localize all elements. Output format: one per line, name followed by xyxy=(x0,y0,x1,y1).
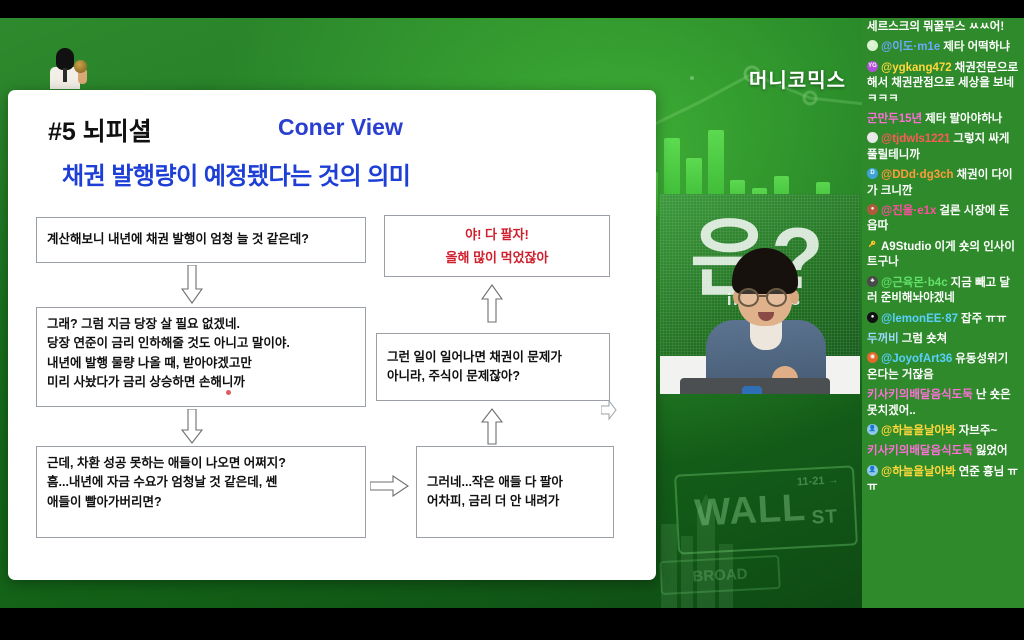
flow-box-5-line-2: 아니라, 주식이 문제잖아? xyxy=(387,367,562,386)
chat-message: ♣@근육몬·b4c지금 빼고 달러 준비해놔야겠네 xyxy=(867,276,1019,307)
flow-box-3-line-3: 애들이 빨아가버리면? xyxy=(47,493,355,512)
laptop xyxy=(668,378,848,394)
chat-username[interactable]: @tjdwls1221 xyxy=(881,133,950,145)
chat-message: 키사키의배달음식도둑난 숏은 못치겠어.. xyxy=(867,388,1019,419)
chat-message: 👤@하늘을날아봐자브주~ xyxy=(867,424,1019,439)
chat-username[interactable]: 군만두15년 xyxy=(867,113,922,125)
chat-message: 키사키의배달음식도둑잃었어 xyxy=(867,444,1019,459)
presenter-person xyxy=(706,248,826,394)
broad-street-sign-graphic: BROAD xyxy=(659,555,781,595)
chat-username[interactable]: @근육몬·b4c xyxy=(881,277,948,289)
chat-username[interactable]: @ygkang472 xyxy=(881,62,952,74)
flow-box-6-line-1: 그러네...작은 애들 다 팔아 xyxy=(427,473,563,492)
glasses-icon xyxy=(738,288,759,307)
letterbox-top xyxy=(0,0,1024,18)
chat-text: 세르스크의 뭐꿀무스 ㅆㅆ어! xyxy=(867,21,1004,33)
chat-message: 두꺼비그럼 숏쳐 xyxy=(867,332,1019,347)
flow-box-1: 계산해보니 내년에 채권 발행이 엄청 늘 것 같은데? xyxy=(36,217,366,263)
chat-message: 🔑A9Studio이게 숏의 인사이트구나 xyxy=(867,240,1019,271)
flow-box-6: 그러네...작은 애들 다 팔아 어차피, 금리 더 안 내려가 xyxy=(416,446,614,538)
flow-box-6-line-2: 어차피, 금리 더 안 내려가 xyxy=(427,492,563,511)
flow-box-3-line-2: 흠...내년에 자금 수요가 엄청날 것 같은데, 쎈 xyxy=(47,473,355,492)
chat-text: 잃었어 xyxy=(976,445,1008,457)
chat-username[interactable]: 키사키의배달음식도둑 xyxy=(867,389,973,401)
chat-badge-icon: ◉ xyxy=(867,352,878,363)
chat-username[interactable]: 두꺼비 xyxy=(867,333,899,345)
letterbox-bottom xyxy=(0,608,1024,640)
chat-badge-icon: ♘ xyxy=(867,132,878,143)
chat-message: ♘@tjdwls1221그렇지 싸게 풀릴테니까 xyxy=(867,132,1019,163)
flow-box-5-line-1: 그런 일이 일어나면 채권이 문제가 xyxy=(387,348,562,367)
slide-subtitle: 채권 발행량이 예정됐다는 것의 의미 xyxy=(62,156,638,191)
chat-badge-icon: ● xyxy=(867,312,878,323)
live-chat-panel[interactable]: 세르스크의 뭐꿀무스 ㅆㅆ어!☺@이도·m1e제타 어떡하냐YG@ygkang4… xyxy=(862,18,1024,608)
slide-corner-view-title: Coner View xyxy=(278,114,403,141)
chat-badge-icon: 👤 xyxy=(867,465,878,476)
flow-box-3-line-1: 근데, 차환 성공 못하는 애들이 나오면 어쩌지? xyxy=(47,454,355,473)
arrow-right-icon xyxy=(370,475,410,497)
sign-name: WALL xyxy=(694,486,808,535)
presenter-silhouette-icon xyxy=(50,48,80,88)
chat-badge-icon: ♣ xyxy=(867,276,878,287)
chat-message: ◉@JoyofArt36유동성위기 온다는 거잖음 xyxy=(867,352,1019,383)
presenter-video-feed: 은? iful ld is xyxy=(660,194,860,394)
presentation-slide: #5 뇌피셜 Coner View 채권 발행량이 예정됐다는 것의 의미 계산… xyxy=(8,90,656,580)
sign-suffix: ST xyxy=(811,506,838,529)
chat-text: 제타 팔아야하나 xyxy=(925,113,1002,125)
chat-username[interactable]: @JoyofArt36 xyxy=(881,353,952,365)
chat-badge-icon: ☺ xyxy=(867,40,878,51)
slide-section-title: #5 뇌피셜 xyxy=(48,112,152,148)
channel-watermark: 머니코믹스 xyxy=(749,64,846,93)
chat-badge-icon: 👤 xyxy=(867,424,878,435)
chat-badge-icon: D xyxy=(867,168,878,179)
chat-badge-icon: ● xyxy=(867,204,878,215)
chat-message: D@DDd·dg3ch채권이 다이가 크니깐 xyxy=(867,168,1019,199)
chat-message: 군만두15년제타 팔아야하나 xyxy=(867,112,1019,127)
chat-text: 자브주~ xyxy=(959,425,997,437)
slide-header: #5 뇌피셜 Coner View xyxy=(26,106,638,152)
chat-username[interactable]: @이도·m1e xyxy=(881,41,940,53)
flowchart: 계산해보니 내년에 채권 발행이 엄청 늘 것 같은데? 그래? 그럼 지금 당… xyxy=(26,203,638,591)
arrow-down-icon xyxy=(181,409,203,445)
arrow-up-icon xyxy=(481,283,503,323)
chat-message: YG@ygkang472채권전문으로 해서 채권관점으로 세상을 보네 ㅋㅋㅋ xyxy=(867,61,1019,107)
flow-box-4-line-2: 올해 많이 먹었잖아 xyxy=(446,246,549,269)
flow-box-2-line-3: 내년에 발행 물량 나올 때, 받아야겠고만 xyxy=(47,354,355,373)
chat-username[interactable]: A9Studio xyxy=(881,241,931,253)
chat-message: 세르스크의 뭐꿀무스 ㅆㅆ어! xyxy=(867,20,1019,35)
flow-box-3: 근데, 차환 성공 못하는 애들이 나오면 어쩌지? 흠...내년에 자금 수요… xyxy=(36,446,366,538)
chat-username[interactable]: 키사키의배달음식도둑 xyxy=(867,445,973,457)
chat-username[interactable]: @하늘을날아봐 xyxy=(881,425,956,437)
chat-username[interactable]: @DDd·dg3ch xyxy=(881,169,954,181)
chat-text: 잡주 ㅠㅠ xyxy=(961,313,1007,325)
flow-box-2-line-4: 미리 사놨다가 금리 상승하면 손해니까 xyxy=(47,373,355,392)
chat-message: ●@진울·e1x걸론 시장에 돈읍따 xyxy=(867,204,1019,235)
flow-box-1-line-1: 계산해보니 내년에 채권 발행이 엄청 늘 것 같은데? xyxy=(47,230,309,249)
chat-badge-icon: 🔑 xyxy=(867,240,878,251)
flow-box-4-line-1: 야! 다 팔자! xyxy=(465,223,529,246)
arrow-right-icon xyxy=(601,399,617,421)
laptop-sticker-icon xyxy=(742,386,762,394)
chat-message: ☺@이도·m1e제타 어떡하냐 xyxy=(867,40,1019,55)
chat-message: ●@lemonEE·87잡주 ㅠㅠ xyxy=(867,312,1019,327)
stream-screen: 11-21 → WALL ST BROAD 긴급시장진단 머니코믹스 #5 뇌피… xyxy=(0,0,1024,640)
chat-badge-icon: YG xyxy=(867,61,878,72)
flow-box-2-line-1: 그래? 그럼 지금 당장 살 필요 없겠네. xyxy=(47,315,355,334)
flow-box-5: 그런 일이 일어나면 채권이 문제가 아니라, 주식이 문제잖아? xyxy=(376,333,610,401)
cursor-dot xyxy=(226,390,231,395)
sign-number: 11-21 → xyxy=(797,474,839,488)
arrow-up-icon xyxy=(481,407,503,445)
chat-username[interactable]: @하늘을날아봐 xyxy=(881,466,956,478)
chat-text: 제타 어떡하냐 xyxy=(943,41,1010,53)
glasses-icon xyxy=(766,288,787,307)
microphone-icon xyxy=(74,60,87,73)
flow-box-2-line-2: 당장 연준이 금리 인하해줄 것도 아니고 말이야. xyxy=(47,334,355,353)
chat-message: 👤@하늘을날아봐연준 흉님 ㅠㅠ xyxy=(867,465,1019,496)
arrow-down-icon xyxy=(181,265,203,305)
flow-box-4: 야! 다 팔자! 올해 많이 먹었잖아 xyxy=(384,215,610,277)
chat-text: 그럼 숏쳐 xyxy=(902,333,948,345)
chat-message-list[interactable]: 세르스크의 뭐꿀무스 ㅆㅆ어!☺@이도·m1e제타 어떡하냐YG@ygkang4… xyxy=(867,20,1019,496)
chat-username[interactable]: @진울·e1x xyxy=(881,205,936,217)
flow-box-2: 그래? 그럼 지금 당장 살 필요 없겠네. 당장 연준이 금리 인하해줄 것도… xyxy=(36,307,366,407)
chat-username[interactable]: @lemonEE·87 xyxy=(881,313,958,325)
wall-street-sign-graphic: 11-21 → WALL ST xyxy=(674,465,858,554)
